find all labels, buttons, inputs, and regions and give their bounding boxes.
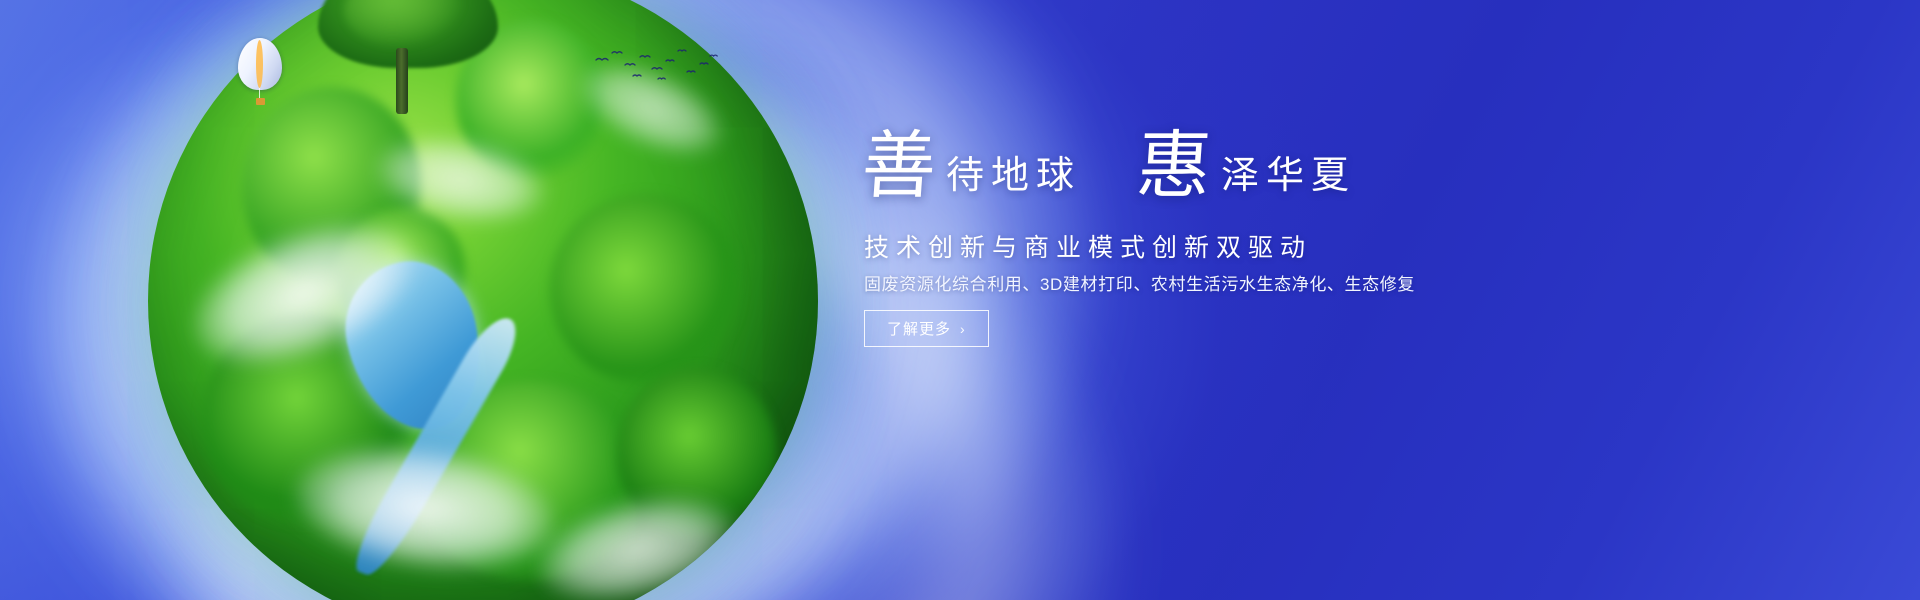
tagline: 技术创新与商业模式创新双驱动 (864, 228, 1312, 264)
hero-banner: 善 待地球 惠 泽华夏 技术创新与商业模式创新双驱动 固废资源化综合利用、3D建… (0, 0, 1920, 600)
learn-more-button[interactable]: 了解更多 › (864, 310, 989, 347)
chevron-right-icon: › (960, 322, 966, 336)
foliage-blob (550, 194, 740, 384)
balloon-basket (256, 98, 265, 105)
headline-part-1: 善 待地球 (862, 132, 1081, 200)
bird-flock-icon (592, 48, 722, 84)
description: 固废资源化综合利用、3D建材打印、农村生活污水生态净化、生态修复 (864, 270, 1415, 295)
hero-content: 善 待地球 惠 泽华夏 技术创新与商业模式创新双驱动 固废资源化综合利用、3D建… (862, 0, 1682, 600)
headline-char-large-1: 善 (860, 132, 939, 200)
hot-air-balloon (238, 38, 284, 114)
learn-more-label: 了解更多 (887, 318, 951, 339)
balloon-stripe (256, 40, 263, 88)
headline-chars-small-2: 泽华夏 (1211, 156, 1356, 200)
headline: 善 待地球 惠 泽华夏 (862, 132, 1682, 200)
headline-char-large-2: 惠 (1135, 132, 1214, 200)
headline-part-2: 惠 泽华夏 (1137, 132, 1356, 200)
headline-chars-small-1: 待地球 (936, 156, 1081, 200)
